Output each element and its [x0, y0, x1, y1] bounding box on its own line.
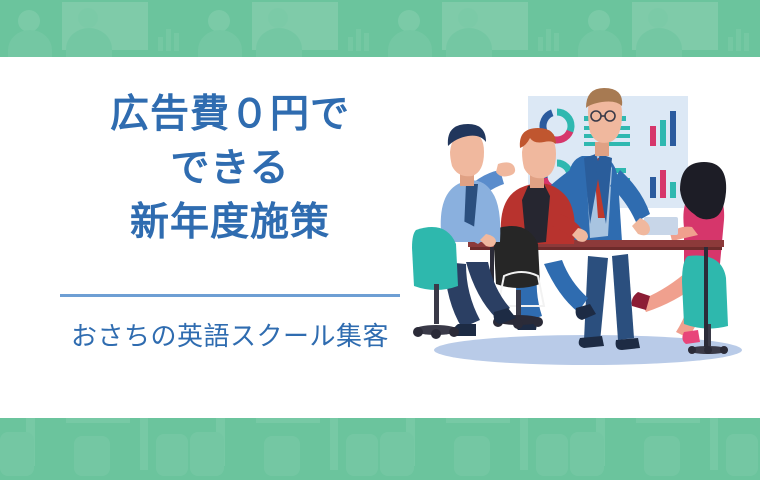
hand-raised — [496, 162, 515, 176]
banner-canvas: 広告費０円で できる 新年度施策 おさちの英語スクール集客 — [0, 0, 760, 480]
headline-line-1: 広告費０円で — [40, 88, 420, 142]
woman-heel — [682, 330, 700, 344]
bottom-decorative-band — [0, 418, 760, 480]
chair-left — [412, 227, 458, 290]
headline-line-3: 新年度施策 — [40, 196, 420, 250]
business-meeting-illustration — [412, 78, 760, 378]
band-tint-overlay — [0, 418, 760, 480]
subtitle-text: おさちの英語スクール集客 — [40, 316, 420, 353]
title-divider — [60, 294, 400, 297]
band-tint-overlay — [0, 0, 760, 57]
headline-block: 広告費０円で できる 新年度施策 — [40, 88, 420, 250]
headline-line-2: できる — [40, 142, 420, 196]
presenter-shoe — [616, 338, 640, 350]
presenter-shoe — [579, 336, 604, 348]
table-leg — [704, 247, 708, 347]
top-decorative-band — [0, 0, 760, 57]
